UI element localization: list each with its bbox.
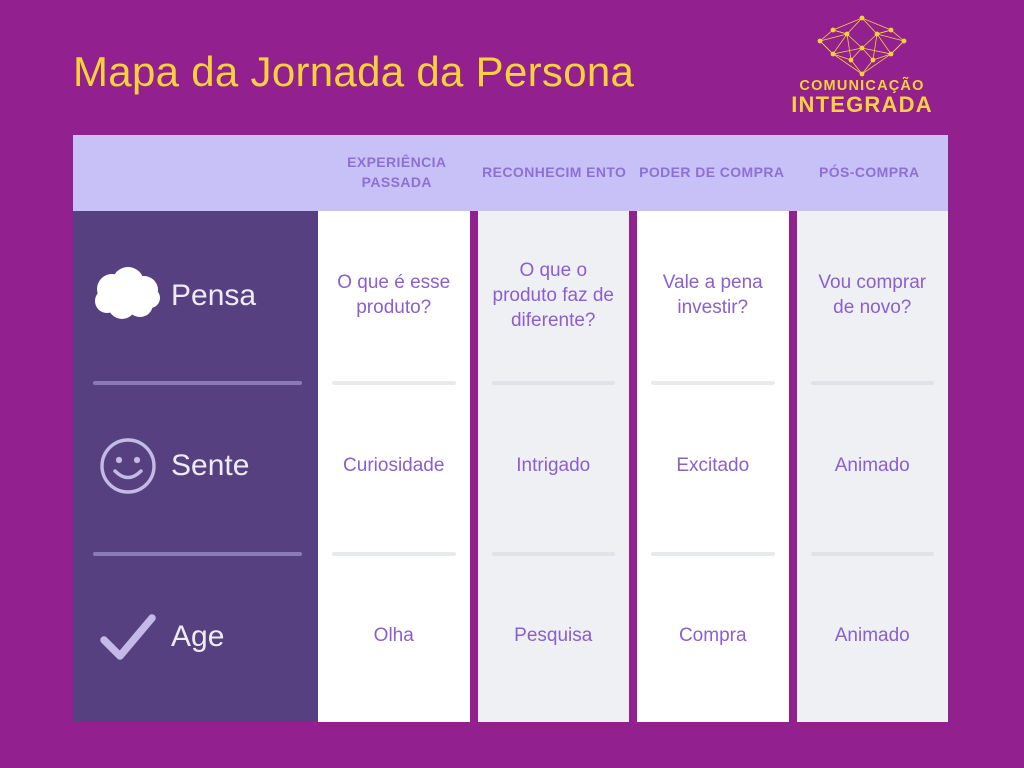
- cell-sente-reconhecimento[interactable]: Intrigado: [478, 381, 630, 551]
- cell-pensa-reconhecimento[interactable]: O que o produto faz de diferente?: [478, 211, 630, 381]
- page-title: Mapa da Jornada da Persona: [73, 48, 634, 96]
- header-corner-spacer: [73, 135, 318, 211]
- column-header-pos-compra: PÓS-COMPRA: [791, 135, 949, 211]
- cell-sente-experiencia-passada[interactable]: Curiosidade: [318, 381, 470, 551]
- checkmark-icon: [91, 610, 165, 664]
- table-body: Pensa Sente: [73, 211, 948, 722]
- column-header-poder-de-compra: PODER DE COMPRA: [633, 135, 791, 211]
- row-label-text: Pensa: [171, 279, 256, 313]
- journey-column-reconhecimento: O que o produto faz de diferente? Intrig…: [478, 211, 630, 722]
- row-label-sente: Sente: [73, 381, 318, 551]
- journey-column-experiencia-passada: O que é esse produto? Curiosidade Olha: [318, 211, 470, 722]
- cell-age-poder-de-compra[interactable]: Compra: [637, 552, 789, 722]
- cloud-icon: [91, 267, 165, 325]
- column-gap: [470, 211, 478, 722]
- table-header-row: EXPERIÊNCIA PASSADA RECONHECIM ENTO PODE…: [73, 135, 948, 211]
- smiley-face-icon: [91, 435, 165, 497]
- row-label-panel: Pensa Sente: [73, 211, 318, 722]
- row-label-pensa: Pensa: [73, 211, 318, 381]
- cell-pensa-poder-de-compra[interactable]: Vale a pena investir?: [637, 211, 789, 381]
- cell-pensa-experiencia-passada[interactable]: O que é esse produto?: [318, 211, 470, 381]
- column-gap: [789, 211, 797, 722]
- cell-age-experiencia-passada[interactable]: Olha: [318, 552, 470, 722]
- row-label-age: Age: [73, 552, 318, 722]
- journey-map-table: EXPERIÊNCIA PASSADA RECONHECIM ENTO PODE…: [73, 135, 948, 722]
- cell-sente-poder-de-compra[interactable]: Excitado: [637, 381, 789, 551]
- network-heart-icon: [803, 8, 921, 78]
- cell-age-pos-compra[interactable]: Animado: [797, 552, 949, 722]
- journey-column-pos-compra: Vou comprar de novo? Animado Animado: [797, 211, 949, 722]
- cell-pensa-pos-compra[interactable]: Vou comprar de novo?: [797, 211, 949, 381]
- row-label-text: Sente: [171, 449, 249, 483]
- cell-age-reconhecimento[interactable]: Pesquisa: [478, 552, 630, 722]
- row-label-text: Age: [171, 620, 224, 654]
- column-header-experiencia-passada: EXPERIÊNCIA PASSADA: [318, 135, 476, 211]
- cell-sente-pos-compra[interactable]: Animado: [797, 381, 949, 551]
- column-header-reconhecimento: RECONHECIM ENTO: [476, 135, 634, 211]
- journey-columns: O que é esse produto? Curiosidade Olha O…: [318, 211, 948, 722]
- column-gap: [629, 211, 637, 722]
- journey-column-poder-de-compra: Vale a pena investir? Excitado Compra: [637, 211, 789, 722]
- brand-name-line-2: INTEGRADA: [772, 94, 952, 116]
- brand-logo: COMUNICAÇÃO INTEGRADA: [772, 8, 952, 120]
